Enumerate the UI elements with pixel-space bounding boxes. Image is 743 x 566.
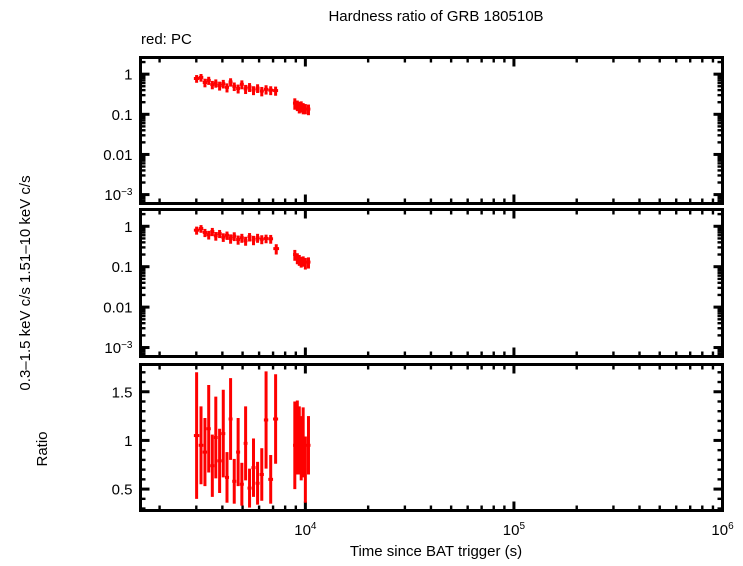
y-tick-label: 0.1 <box>112 259 133 276</box>
y-tick-label: 0.01 <box>103 300 132 317</box>
y-tick-label: 0.01 <box>103 147 132 164</box>
y-tick-label: 0.5 <box>112 482 133 499</box>
y-tick-label: 1 <box>124 67 132 84</box>
y-axis-label-combined: 0.3–1.5 keV c/s 1.51–10 keV c/s <box>17 175 34 390</box>
x-axis-label: Time since BAT trigger (s) <box>350 543 522 560</box>
page-title: Hardness ratio of GRB 180510B <box>328 8 543 25</box>
x-tick-exponent: 5 <box>519 521 525 532</box>
y-tick-label: 1 <box>124 219 132 236</box>
x-tick-exponent: 4 <box>311 521 317 532</box>
hardness-ratio-figure: Hardness ratio of GRB 180510B red: PC 0.… <box>0 0 743 566</box>
plot-canvas: Hardness ratio of GRB 180510B red: PC 0.… <box>0 0 743 566</box>
y-tick-label: 1 <box>124 433 132 450</box>
y-axis-label-ratio: Ratio <box>34 431 51 466</box>
y-tick-exponent: −3 <box>121 187 133 198</box>
y-tick-label: 1.5 <box>112 384 133 401</box>
y-tick-exponent: −3 <box>121 340 133 351</box>
legend-label-pc: red: PC <box>141 31 192 48</box>
y-tick-label: 0.1 <box>112 107 133 124</box>
x-tick-exponent: 6 <box>728 521 734 532</box>
